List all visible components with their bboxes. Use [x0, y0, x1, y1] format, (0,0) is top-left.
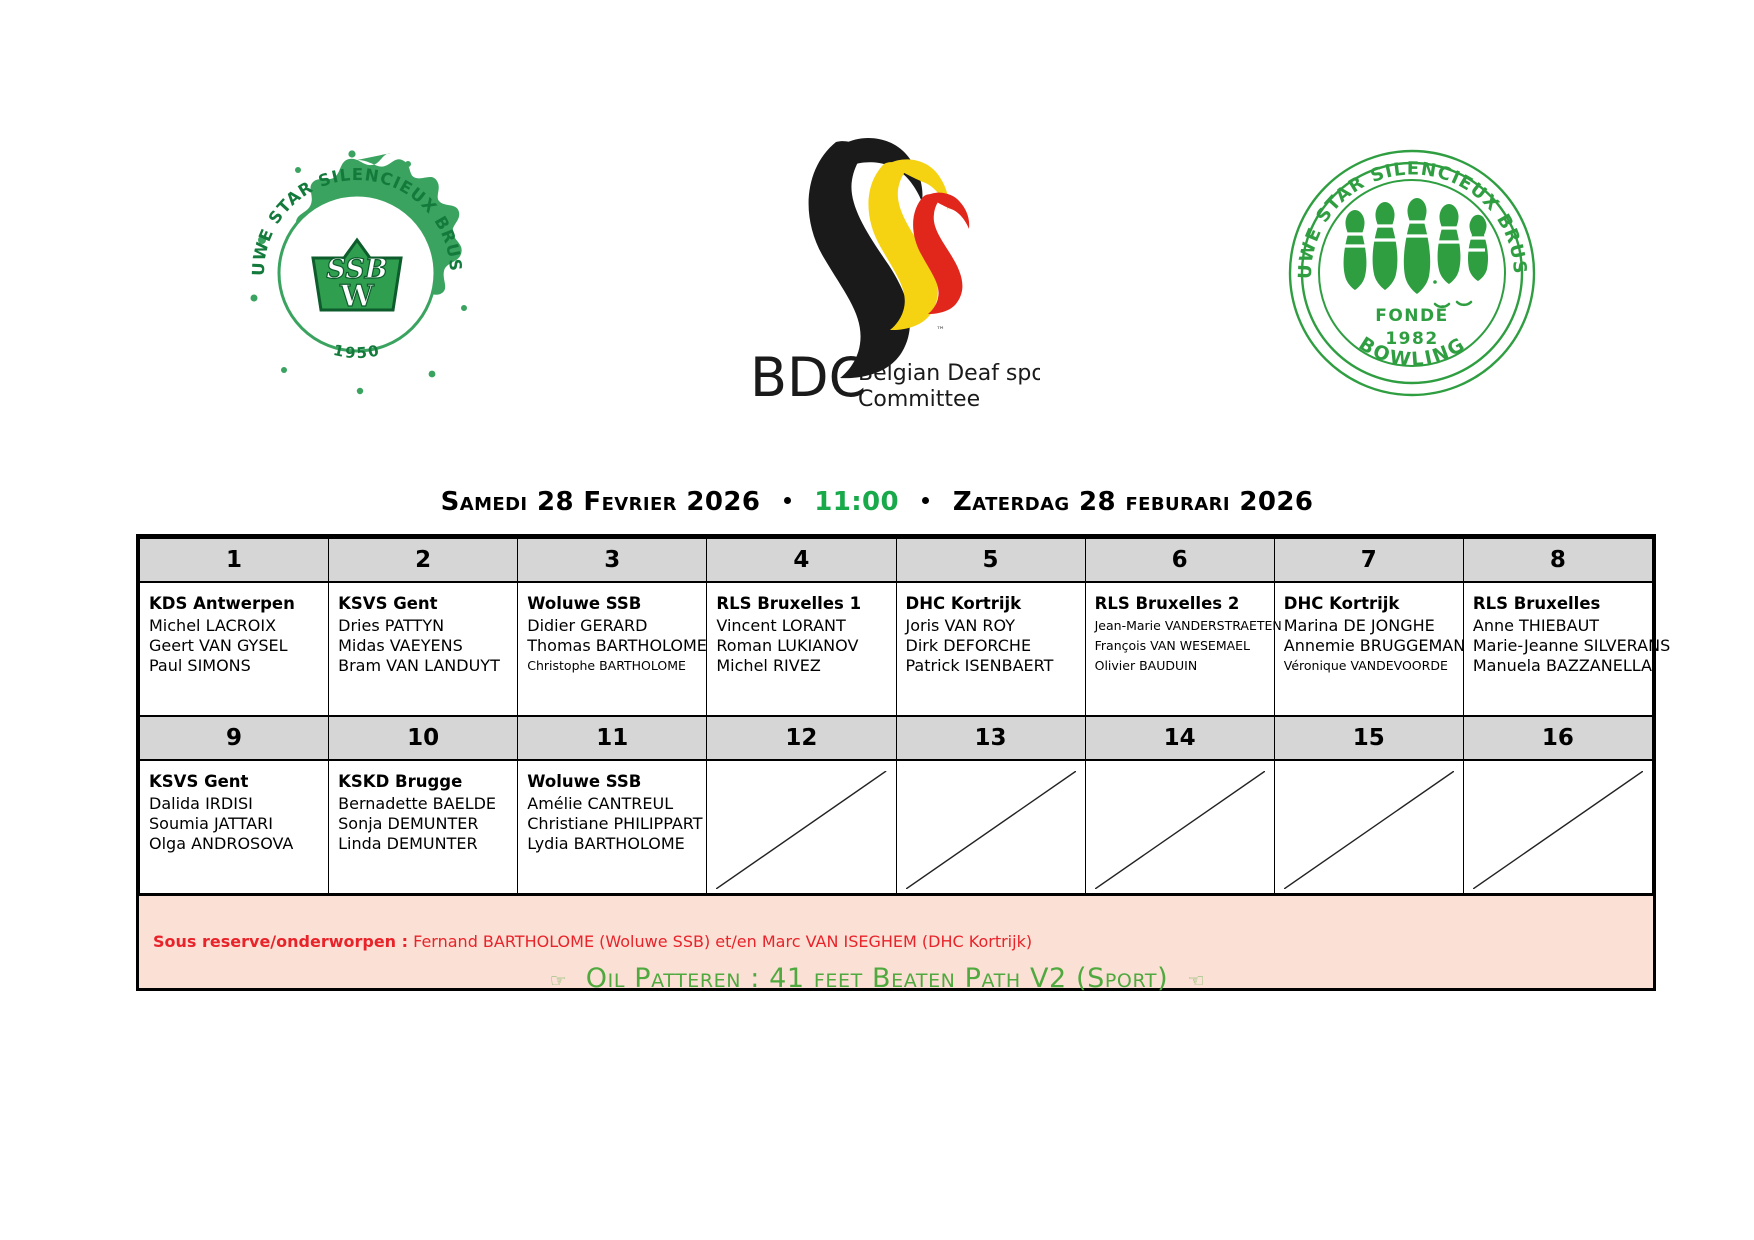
empty-lane-cell-16[interactable] [1463, 760, 1652, 894]
lane-number-7: 7 [1274, 538, 1463, 582]
lane-number-8: 8 [1463, 538, 1652, 582]
player-name: Vincent LORANT [716, 616, 886, 636]
oil-pattern-text: Oil Patteren : 41 feet Beaten Path V2 (S… [586, 963, 1168, 994]
player-name: Christiane PHILIPPART [527, 814, 697, 834]
player-name: Olivier BAUDUIN [1095, 656, 1265, 676]
player-name: Bernadette BAELDE [338, 794, 508, 814]
oil-pattern-line: ☞ Oil Patteren : 41 feet Beaten Path V2 … [0, 963, 1754, 994]
reserve-label: Sous reserve/onderworpen : [153, 932, 408, 951]
diagonal-slash-icon [1095, 771, 1265, 889]
lane-cell-1[interactable]: KDS AntwerpenMichel LACROIXGeert VAN GYS… [140, 582, 329, 716]
player-name: Dalida IRDISI [149, 794, 319, 814]
lanes-table: 12345678KDS AntwerpenMichel LACROIXGeert… [139, 537, 1653, 894]
diagonal-slash-icon [906, 771, 1076, 889]
player-name: Manuela BAZZANELLA [1473, 656, 1643, 676]
player-name: Joris VAN ROY [906, 616, 1076, 636]
lane-number-4: 4 [707, 538, 896, 582]
lane-number-5: 5 [896, 538, 1085, 582]
lane-cell-5[interactable]: DHC KortrijkJoris VAN ROYDirk DEFORCHEPa… [896, 582, 1085, 716]
event-date-line: Samedi 28 Fevrier 2026 11:00 Zaterdag 28… [0, 487, 1754, 517]
reserve-players: Fernand BARTHOLOME (Woluwe SSB) et/en Ma… [408, 932, 1032, 951]
lane-number-row: 910111213141516 [140, 716, 1653, 760]
diagonal-slash-icon [1284, 771, 1454, 889]
team-name: KSVS Gent [338, 593, 508, 614]
player-name: Sonja DEMUNTER [338, 814, 508, 834]
empty-lane-cell-14[interactable] [1085, 760, 1274, 894]
player-name: Anne THIEBAUT [1473, 616, 1643, 636]
lane-cell-2[interactable]: KSVS GentDries PATTYNMidas VAEYENSBram V… [329, 582, 518, 716]
lane-number-11: 11 [518, 716, 707, 760]
diagonal-slash-icon [716, 771, 886, 889]
lane-cell-7[interactable]: DHC KortrijkMarina DE JONGHEAnnemie BRUG… [1274, 582, 1463, 716]
diagonal-slash-icon [1473, 771, 1643, 889]
svg-text:™: ™ [936, 326, 945, 336]
event-time: 11:00 [814, 487, 899, 517]
lane-number-1: 1 [140, 538, 329, 582]
lane-cell-9[interactable]: KSVS GentDalida IRDISISoumia JATTARIOlga… [140, 760, 329, 894]
bdc-logo: ™ BDC Belgian Deaf sport Committee [740, 128, 1040, 418]
player-name: Jean-Marie VANDERSTRAETEN [1095, 616, 1265, 636]
empty-lane-cell-15[interactable] [1274, 760, 1463, 894]
player-name: Thomas BARTHOLOME [527, 636, 697, 656]
empty-lane-cell-13[interactable] [896, 760, 1085, 894]
seal-founded-label: FONDÉ [1375, 304, 1449, 326]
player-name: Amélie CANTREUL [527, 794, 697, 814]
player-name: Lydia BARTHOLOME [527, 834, 697, 854]
lane-cell-3[interactable]: Woluwe SSBDidier GERARDThomas BARTHOLOME… [518, 582, 707, 716]
bdc-line2: Committee [858, 387, 980, 412]
logo-band: WOLUWE STAR SILENCIEUX BRUSSELS 1950 SSB… [0, 118, 1754, 418]
team-name: DHC Kortrijk [906, 593, 1076, 614]
bdc-acronym: BDC [750, 346, 866, 409]
player-name: Geert VAN GYSEL [149, 636, 319, 656]
lane-assignment-sheet: 12345678KDS AntwerpenMichel LACROIXGeert… [136, 534, 1656, 991]
player-name: Michel RIVEZ [716, 656, 886, 676]
empty-lane-cell-12[interactable] [707, 760, 896, 894]
team-name: Woluwe SSB [527, 771, 697, 792]
lane-number-12: 12 [707, 716, 896, 760]
team-name: KDS Antwerpen [149, 593, 319, 614]
lane-cell-11[interactable]: Woluwe SSBAmélie CANTREULChristiane PHIL… [518, 760, 707, 894]
lane-cell-6[interactable]: RLS Bruxelles 2Jean-Marie VANDERSTRAETEN… [1085, 582, 1274, 716]
player-name: Dirk DEFORCHE [906, 636, 1076, 656]
lane-number-16: 16 [1463, 716, 1652, 760]
lane-number-14: 14 [1085, 716, 1274, 760]
player-name: Linda DEMUNTER [338, 834, 508, 854]
lane-number-3: 3 [518, 538, 707, 582]
svg-text:W: W [339, 279, 375, 314]
player-name: François VAN WESEMAEL [1095, 636, 1265, 656]
pointing-hand-icon-left: ☞ [550, 970, 568, 992]
lane-number-10: 10 [329, 716, 518, 760]
player-name: Annemie BRUGGEMAN [1284, 636, 1454, 656]
player-name: Patrick ISENBAERT [906, 656, 1076, 676]
seal-founded-year: 1982 [1385, 329, 1438, 349]
lane-number-6: 6 [1085, 538, 1274, 582]
date-nl: Zaterdag 28 feburari 2026 [953, 487, 1313, 517]
team-name: KSVS Gent [149, 771, 319, 792]
player-name: Midas VAEYENS [338, 636, 508, 656]
player-name: Dries PATTYN [338, 616, 508, 636]
date-fr: Samedi 28 Fevrier 2026 [441, 487, 761, 517]
player-name: Michel LACROIX [149, 616, 319, 636]
player-name: Didier GERARD [527, 616, 697, 636]
lane-number-9: 9 [140, 716, 329, 760]
bullet-separator-2 [922, 497, 929, 504]
player-name: Véronique VANDEVOORDE [1284, 656, 1454, 676]
player-name: Soumia JATTARI [149, 814, 319, 834]
team-name: RLS Bruxelles 1 [716, 593, 886, 614]
team-name: RLS Bruxelles [1473, 593, 1643, 614]
player-name: Marina DE JONGHE [1284, 616, 1454, 636]
team-name: DHC Kortrijk [1284, 593, 1454, 614]
player-name: Paul SIMONS [149, 656, 319, 676]
player-name: Olga ANDROSOVA [149, 834, 319, 854]
team-name: KSKD Brugge [338, 771, 508, 792]
player-name: Christophe BARTHOLOME [527, 656, 697, 676]
lane-number-row: 12345678 [140, 538, 1653, 582]
lane-cell-8[interactable]: RLS BruxellesAnne THIEBAUTMarie-Jeanne S… [1463, 582, 1652, 716]
player-name: Marie-Jeanne SILVERANS [1473, 636, 1643, 656]
pointing-hand-icon-right: ☞ [1187, 970, 1205, 992]
bdc-line1: Belgian Deaf sport [858, 361, 1040, 386]
lane-cell-4[interactable]: RLS Bruxelles 1Vincent LORANTRoman LUKIA… [707, 582, 896, 716]
lane-squad-row: KSVS GentDalida IRDISISoumia JATTARIOlga… [140, 760, 1653, 894]
lane-squad-row: KDS AntwerpenMichel LACROIXGeert VAN GYS… [140, 582, 1653, 716]
ssb-splash-logo: WOLUWE STAR SILENCIEUX BRUSSELS 1950 SSB… [232, 148, 482, 398]
team-name: Woluwe SSB [527, 593, 697, 614]
team-name: RLS Bruxelles 2 [1095, 593, 1265, 614]
player-name: Roman LUKIANOV [716, 636, 886, 656]
lane-number-15: 15 [1274, 716, 1463, 760]
lane-cell-10[interactable]: KSKD BruggeBernadette BAELDESonja DEMUNT… [329, 760, 518, 894]
lane-number-2: 2 [329, 538, 518, 582]
player-name: Bram VAN LANDUYT [338, 656, 508, 676]
bullet-separator-1 [784, 497, 791, 504]
lane-number-13: 13 [896, 716, 1085, 760]
ssb-bowling-seal: WOLUWE STAR SILENCIEUX BRUSSELS BOWLING [1285, 146, 1540, 401]
